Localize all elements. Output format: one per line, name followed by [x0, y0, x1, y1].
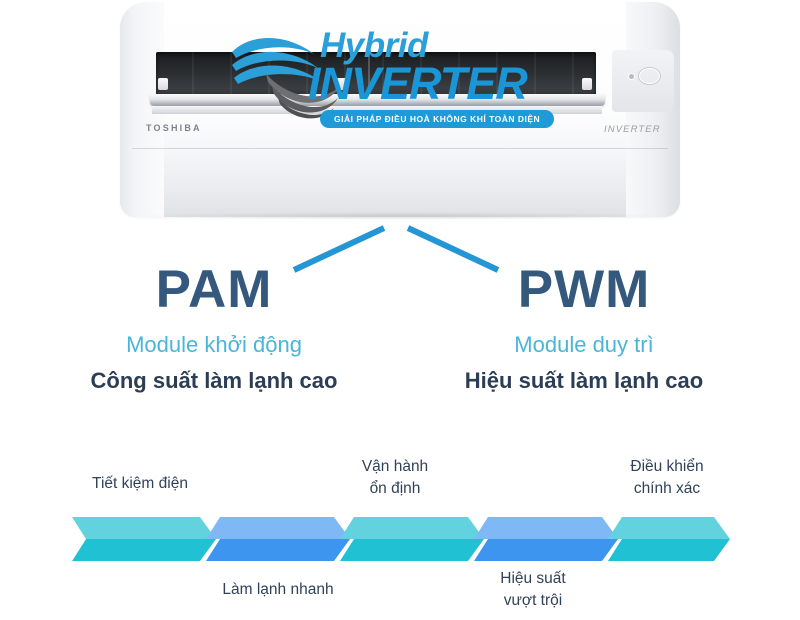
module-block-pwm: PWM Module duy trì Hiệu suất làm lạnh ca… [414, 262, 754, 394]
logo-tagline-pill: GIẢI PHÁP ĐIỀU HOÀ KHÔNG KHÍ TOÀN DIỆN [320, 110, 554, 128]
benefit-chevron-band: Tiết kiệm điện Vận hành ổn định Điều khi… [0, 455, 800, 620]
chevron-segment-2 [206, 517, 350, 561]
module-title-pam: PAM [44, 262, 384, 318]
brand-logo-toshiba: TOSHIBA [146, 123, 202, 133]
module-title-pwm: PWM [414, 262, 754, 318]
ac-receiver-oval-icon [639, 68, 660, 84]
hybrid-inverter-logo: Hybrid INVERTER GIẢI PHÁP ĐIỀU HOÀ KHÔNG… [222, 18, 582, 122]
ac-status-led-icon [629, 74, 634, 79]
benefit-label-1: Tiết kiệm điện [40, 473, 240, 495]
benefit-label-2: Làm lạnh nhanh [178, 579, 378, 601]
module-block-pam: PAM Module khởi động Công suất làm lạnh … [44, 262, 384, 394]
module-subtitle-pam: Module khởi động [44, 332, 384, 358]
chevron-segment-1 [72, 517, 216, 561]
chevron-segment-4 [474, 517, 618, 561]
module-subtitle-pwm: Module duy trì [414, 332, 754, 358]
module-description-pwm: Hiệu suất làm lạnh cao [414, 368, 754, 394]
infographic-canvas: Hybrid INVERTER GIẢI PHÁP ĐIỀU HOÀ KHÔNG… [0, 0, 800, 620]
ac-body-seam [132, 148, 668, 149]
ac-louver-tab-left [158, 78, 168, 90]
module-description-pam: Công suất làm lạnh cao [44, 368, 384, 394]
benefit-label-5: Điều khiển chính xác [582, 456, 752, 501]
chevron-segment-5 [608, 517, 730, 561]
brand-badge-inverter: INVERTER [604, 124, 661, 135]
benefit-label-3: Vận hành ổn định [310, 456, 480, 501]
chevron-arrow-graphic [0, 515, 800, 573]
ac-louver-tab-right [582, 78, 592, 90]
chevron-segment-3 [340, 517, 484, 561]
logo-word-inverter: INVERTER [308, 58, 527, 110]
benefit-label-4: Hiệu suất vượt trội [448, 568, 618, 613]
logo-wordmark: Hybrid INVERTER GIẢI PHÁP ĐIỀU HOÀ KHÔNG… [308, 18, 583, 122]
